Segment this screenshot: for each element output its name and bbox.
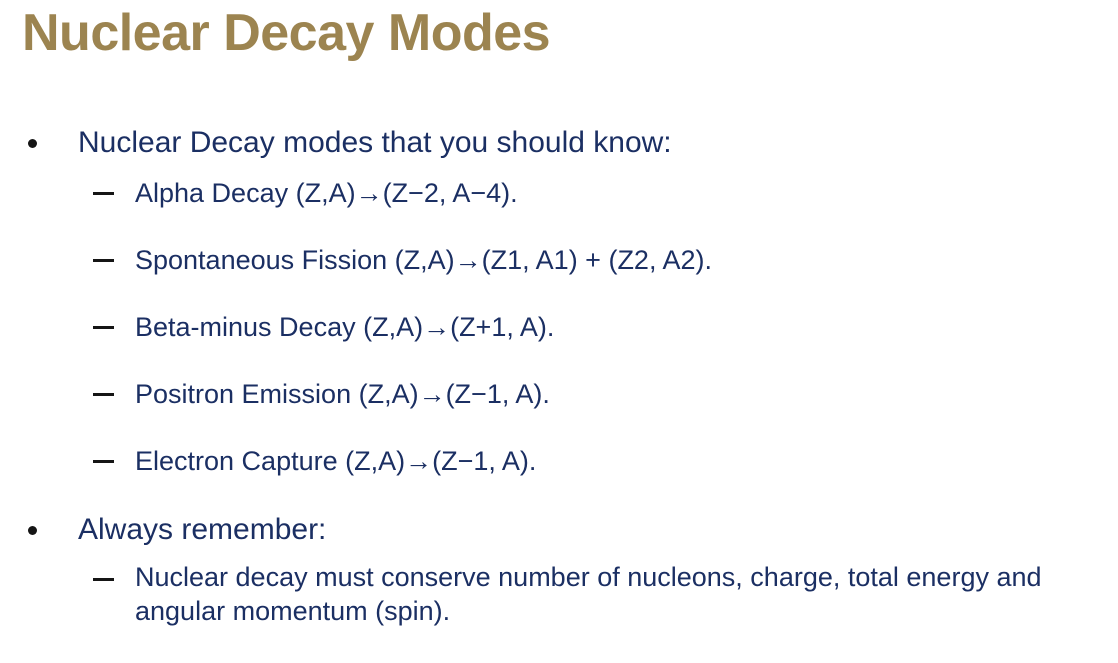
list-item: Nuclear decay must conserve number of nu…: [0, 560, 1118, 628]
bullet-heading-label: Nuclear Decay modes that you should know…: [78, 126, 672, 159]
list-item-label: Electron Capture (Z,A)→(Z−1, A).: [135, 446, 536, 476]
list-item-label: Alpha Decay (Z,A)→(Z−2, A−4).: [135, 178, 518, 208]
section-decay-modes: Nuclear Decay modes that you should know…: [0, 122, 1118, 480]
page-title: Nuclear Decay Modes: [22, 2, 550, 64]
dash-icon: [93, 308, 115, 346]
bullet-dot-icon: [28, 509, 44, 551]
list-item: Beta-minus Decay (Z,A)→(Z+1, A).: [0, 308, 1118, 346]
list-item: Alpha Decay (Z,A)→(Z−2, A−4).: [0, 174, 1118, 212]
slide-body: Nuclear Decay modes that you should know…: [0, 122, 1118, 628]
slide: Nuclear Decay Modes Nuclear Decay modes …: [0, 0, 1118, 663]
sublist-decay-modes: Alpha Decay (Z,A)→(Z−2, A−4). Spontaneou…: [0, 174, 1118, 480]
list-item-label: Spontaneous Fission (Z,A)→(Z1, A1) + (Z2…: [135, 245, 712, 275]
bullet-heading-decay-modes: Nuclear Decay modes that you should know…: [0, 122, 1118, 164]
list-item-label: Positron Emission (Z,A)→(Z−1, A).: [135, 379, 550, 409]
dash-icon: [93, 174, 115, 212]
bullet-dot-icon: [28, 122, 44, 164]
list-item: Electron Capture (Z,A)→(Z−1, A).: [0, 442, 1118, 480]
list-item-label: Beta-minus Decay (Z,A)→(Z+1, A).: [135, 312, 554, 342]
list-item: Spontaneous Fission (Z,A)→(Z1, A1) + (Z2…: [0, 241, 1118, 279]
list-item: Positron Emission (Z,A)→(Z−1, A).: [0, 375, 1118, 413]
bullet-heading-label: Always remember:: [78, 513, 326, 546]
dash-icon: [93, 241, 115, 279]
dash-icon: [93, 560, 115, 598]
dash-icon: [93, 375, 115, 413]
section-always-remember: Always remember: Nuclear decay must cons…: [0, 509, 1118, 628]
dash-icon: [93, 442, 115, 480]
bullet-heading-always-remember: Always remember:: [0, 509, 1118, 551]
sublist-always-remember: Nuclear decay must conserve number of nu…: [0, 560, 1118, 628]
list-item-label: Nuclear decay must conserve number of nu…: [135, 562, 1042, 626]
